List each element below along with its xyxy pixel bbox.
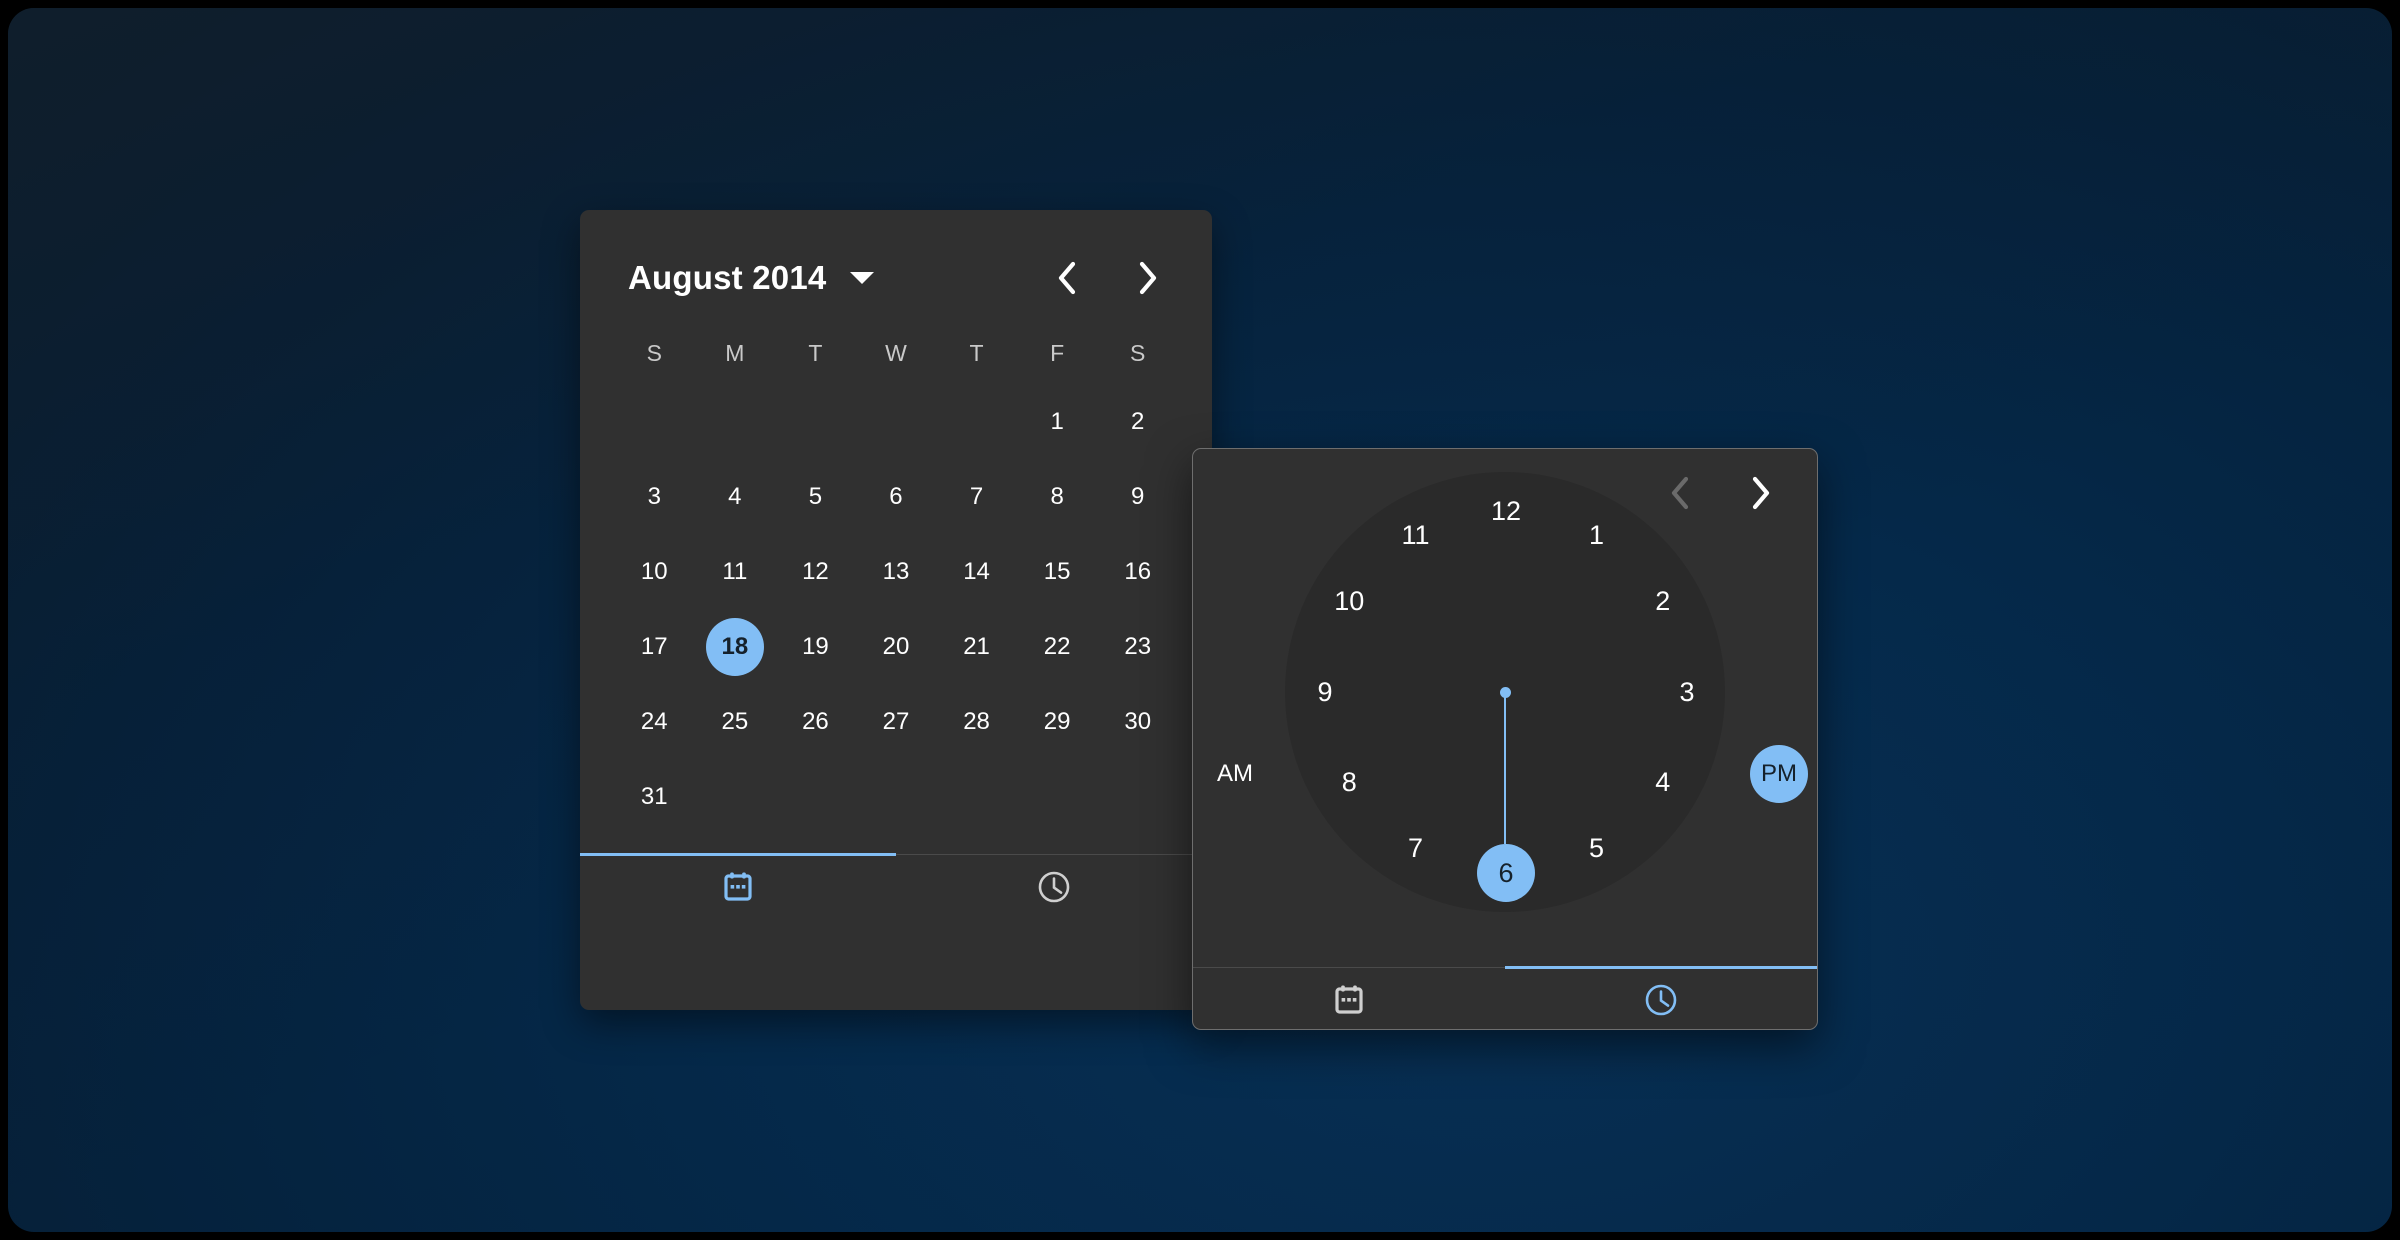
hour-option-selected[interactable]: 6 bbox=[1477, 844, 1535, 902]
day-number: 7 bbox=[948, 468, 1006, 526]
clock-icon bbox=[1644, 983, 1678, 1017]
day-number: 17 bbox=[625, 618, 683, 676]
day-cell[interactable]: 22 bbox=[1017, 609, 1098, 684]
day-cell[interactable]: 2 bbox=[1097, 384, 1178, 459]
day-cell[interactable]: 7 bbox=[936, 459, 1017, 534]
day-number: 22 bbox=[1028, 618, 1086, 676]
day-cell[interactable]: 15 bbox=[1017, 534, 1098, 609]
day-cell[interactable]: 26 bbox=[775, 684, 856, 759]
active-tab-indicator bbox=[1505, 966, 1817, 969]
active-tab-indicator bbox=[580, 853, 896, 856]
day-number: 26 bbox=[786, 693, 844, 751]
day-cell[interactable]: 12 bbox=[775, 534, 856, 609]
hour-option[interactable]: 9 bbox=[1296, 663, 1354, 721]
previous-time-button[interactable] bbox=[1657, 471, 1701, 515]
time-picker-tab-rail bbox=[1193, 967, 1817, 968]
day-number: 12 bbox=[786, 543, 844, 601]
hour-option[interactable]: 11 bbox=[1387, 506, 1445, 564]
chevron-left-icon bbox=[1055, 261, 1077, 295]
day-number: 1 bbox=[1028, 393, 1086, 451]
day-number: 29 bbox=[1028, 693, 1086, 751]
time-picker-dialog: 121234567891011 AM PM bbox=[1192, 448, 1818, 1030]
weekday-header: F bbox=[1017, 322, 1098, 384]
clock-icon bbox=[1037, 870, 1071, 904]
day-cell[interactable]: 8 bbox=[1017, 459, 1098, 534]
weekday-header: T bbox=[775, 322, 856, 384]
weekday-header: W bbox=[856, 322, 937, 384]
day-cell[interactable]: 20 bbox=[856, 609, 937, 684]
day-cell[interactable]: 3 bbox=[614, 459, 695, 534]
calendar-icon bbox=[1334, 984, 1364, 1016]
pm-label: PM bbox=[1761, 760, 1797, 788]
time-picker-nav bbox=[1657, 471, 1783, 515]
day-cell[interactable]: 9 bbox=[1097, 459, 1178, 534]
day-cell[interactable]: 11 bbox=[695, 534, 776, 609]
day-cell[interactable]: 10 bbox=[614, 534, 695, 609]
am-option[interactable]: AM bbox=[1206, 745, 1264, 803]
next-time-button[interactable] bbox=[1739, 471, 1783, 515]
day-number: 13 bbox=[867, 543, 925, 601]
previous-month-button[interactable] bbox=[1044, 256, 1088, 300]
day-number: 6 bbox=[867, 468, 925, 526]
calendar-icon bbox=[723, 871, 753, 903]
day-cell[interactable]: 14 bbox=[936, 534, 1017, 609]
day-number: 30 bbox=[1109, 693, 1167, 751]
day-number: 16 bbox=[1109, 543, 1167, 601]
hour-option[interactable]: 12 bbox=[1477, 482, 1535, 540]
day-cell[interactable]: 24 bbox=[614, 684, 695, 759]
calendar-grid: SMTWTFS123456789101112131415161718192021… bbox=[580, 310, 1212, 834]
hour-option[interactable]: 3 bbox=[1658, 663, 1716, 721]
time-picker-body: 121234567891011 AM PM bbox=[1193, 449, 1817, 967]
clock-center-dot bbox=[1500, 687, 1511, 698]
day-cell[interactable]: 13 bbox=[856, 534, 937, 609]
day-number: 27 bbox=[867, 693, 925, 751]
tab-time[interactable] bbox=[1505, 968, 1817, 1030]
tab-date[interactable] bbox=[1193, 968, 1505, 1030]
tab-date[interactable] bbox=[580, 855, 896, 918]
am-label: AM bbox=[1217, 760, 1253, 788]
day-cell[interactable]: 29 bbox=[1017, 684, 1098, 759]
weekday-header: T bbox=[936, 322, 1017, 384]
day-cell[interactable]: 31 bbox=[614, 759, 695, 834]
pm-option[interactable]: PM bbox=[1750, 745, 1808, 803]
date-picker-header: August 2014 bbox=[580, 210, 1212, 310]
day-number: 2 bbox=[1109, 393, 1167, 451]
day-number: 15 bbox=[1028, 543, 1086, 601]
day-cell[interactable]: 28 bbox=[936, 684, 1017, 759]
tab-time[interactable] bbox=[896, 855, 1212, 918]
day-cell[interactable]: 6 bbox=[856, 459, 937, 534]
date-picker-dialog: August 2014 SMTWTFS123456789101112131415… bbox=[580, 210, 1212, 1010]
clock-hand bbox=[1504, 692, 1506, 844]
day-cell[interactable]: 30 bbox=[1097, 684, 1178, 759]
chevron-right-icon bbox=[1750, 476, 1772, 510]
day-cell-empty bbox=[614, 384, 695, 459]
day-number: 10 bbox=[625, 543, 683, 601]
day-cell-empty bbox=[856, 384, 937, 459]
day-number: 11 bbox=[706, 543, 764, 601]
day-number: 20 bbox=[867, 618, 925, 676]
hour-option[interactable]: 2 bbox=[1634, 573, 1692, 631]
day-number: 28 bbox=[948, 693, 1006, 751]
day-number: 24 bbox=[625, 693, 683, 751]
day-number: 19 bbox=[786, 618, 844, 676]
hour-option[interactable]: 4 bbox=[1634, 754, 1692, 812]
chevron-left-icon bbox=[1668, 476, 1690, 510]
day-cell[interactable]: 5 bbox=[775, 459, 856, 534]
hour-option[interactable]: 1 bbox=[1568, 506, 1626, 564]
weekday-header: M bbox=[695, 322, 776, 384]
day-number: 9 bbox=[1109, 468, 1167, 526]
date-picker-tab-rail bbox=[580, 854, 1212, 855]
day-number: 25 bbox=[706, 693, 764, 751]
day-cell-empty bbox=[936, 384, 1017, 459]
hour-option[interactable]: 10 bbox=[1320, 573, 1378, 631]
day-cell-empty bbox=[775, 384, 856, 459]
day-cell[interactable]: 4 bbox=[695, 459, 776, 534]
hour-option[interactable]: 8 bbox=[1320, 754, 1378, 812]
day-cell[interactable]: 1 bbox=[1017, 384, 1098, 459]
day-cell-empty bbox=[695, 384, 776, 459]
day-number: 3 bbox=[625, 468, 683, 526]
triangle-down-icon[interactable] bbox=[850, 272, 874, 284]
date-picker-body: August 2014 SMTWTFS123456789101112131415… bbox=[580, 210, 1212, 834]
screen: August 2014 SMTWTFS123456789101112131415… bbox=[0, 0, 2400, 1240]
day-cell-selected[interactable]: 18 bbox=[695, 609, 776, 684]
hour-option[interactable]: 7 bbox=[1387, 820, 1445, 878]
weekday-header: S bbox=[1097, 322, 1178, 384]
day-cell[interactable]: 27 bbox=[856, 684, 937, 759]
day-cell[interactable]: 17 bbox=[614, 609, 695, 684]
day-number: 23 bbox=[1109, 618, 1167, 676]
day-cell[interactable]: 25 bbox=[695, 684, 776, 759]
date-picker-tabbar bbox=[580, 855, 1212, 918]
hour-option[interactable]: 5 bbox=[1568, 820, 1626, 878]
day-number: 8 bbox=[1028, 468, 1086, 526]
day-cell[interactable]: 19 bbox=[775, 609, 856, 684]
day-number: 21 bbox=[948, 618, 1006, 676]
day-cell[interactable]: 23 bbox=[1097, 609, 1178, 684]
day-number: 14 bbox=[948, 543, 1006, 601]
chevron-right-icon bbox=[1137, 261, 1159, 295]
day-number: 18 bbox=[706, 618, 764, 676]
day-number: 31 bbox=[625, 768, 683, 826]
day-number: 4 bbox=[706, 468, 764, 526]
time-picker-tabbar bbox=[1193, 968, 1817, 1030]
day-number: 5 bbox=[786, 468, 844, 526]
day-cell[interactable]: 16 bbox=[1097, 534, 1178, 609]
day-cell[interactable]: 21 bbox=[936, 609, 1017, 684]
month-year-title[interactable]: August 2014 bbox=[628, 259, 826, 297]
next-month-button[interactable] bbox=[1126, 256, 1170, 300]
weekday-header: S bbox=[614, 322, 695, 384]
